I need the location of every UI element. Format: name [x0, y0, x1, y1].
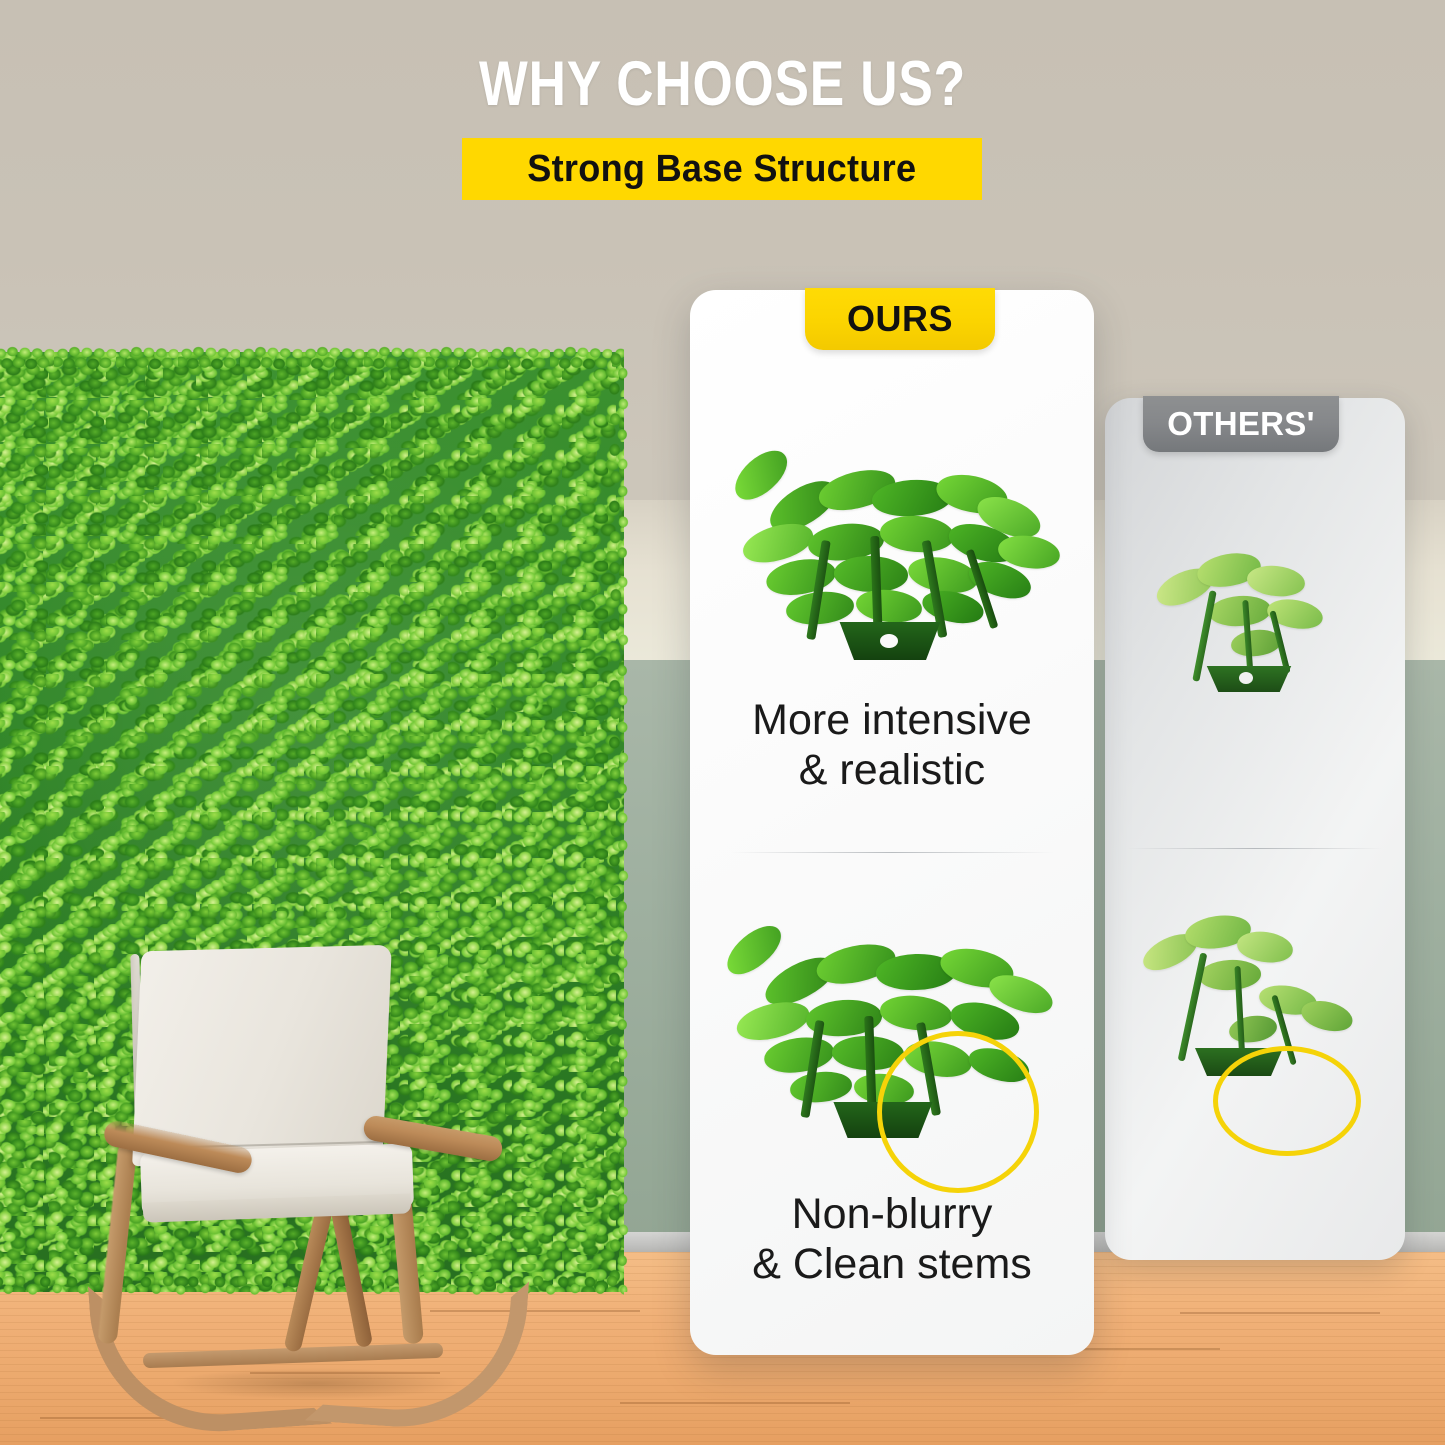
plant-leaf [762, 1033, 836, 1076]
plant-leaf [1246, 563, 1307, 599]
plant-leaf [855, 587, 924, 626]
hedge-top-fringe [0, 338, 624, 372]
ours-caption-one-line1: More intensive [690, 696, 1094, 746]
plant-leaf [1208, 594, 1272, 628]
ours-badge: OURS [805, 288, 995, 350]
ours-card-divider [730, 852, 1054, 853]
plant-leaf [719, 917, 789, 983]
others-badge-label: OTHERS' [1167, 405, 1314, 443]
ours-comparison-card: More intensive & realistic Non-blurry & … [690, 290, 1094, 1355]
ours-caption-one-line2: & realistic [690, 746, 1094, 796]
dense-plant-sample [722, 440, 1062, 690]
plant-leaf [1227, 1013, 1278, 1045]
subtitle-text: Strong Base Structure [527, 148, 916, 191]
yellow-circle-highlight [877, 1031, 1039, 1193]
others-card-divider [1127, 848, 1383, 849]
hedge-right-fringe [606, 352, 634, 1292]
plant-stem [1178, 952, 1208, 1061]
plant-leaf [879, 513, 955, 554]
plant-base-hole [880, 634, 898, 648]
ours-caption-one: More intensive & realistic [690, 696, 1094, 796]
ours-caption-two: Non-blurry & Clean stems [690, 1190, 1094, 1290]
plant-leaf [1298, 996, 1355, 1036]
yellow-ellipse-highlight [1213, 1046, 1361, 1156]
page-title: WHY CHOOSE US? [130, 48, 1315, 120]
sparse-plant-sample [1139, 538, 1369, 728]
ours-caption-two-line2: & Clean stems [690, 1240, 1094, 1290]
ours-caption-two-line1: Non-blurry [690, 1190, 1094, 1240]
plant-leaf [789, 1069, 854, 1105]
infographic-canvas: WHY CHOOSE US? Strong Base Structure [0, 0, 1445, 1445]
rocking-chair [95, 948, 535, 1418]
others-comparison-card [1105, 398, 1405, 1260]
others-badge: OTHERS' [1143, 396, 1339, 452]
ours-badge-label: OURS [847, 298, 953, 340]
plant-leaf [1198, 958, 1261, 991]
plant-base-hole [1239, 672, 1253, 684]
subtitle-banner: Strong Base Structure [462, 138, 982, 200]
